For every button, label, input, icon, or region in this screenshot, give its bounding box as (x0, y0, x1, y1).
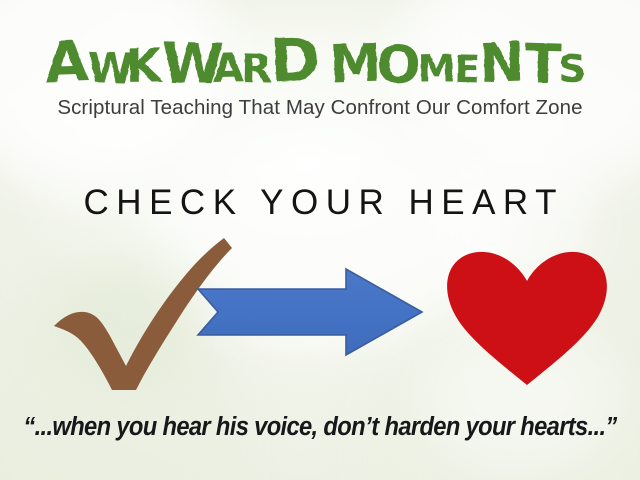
logo-letter: S (558, 47, 586, 91)
right-arrow-icon (196, 267, 424, 357)
logo-letter: O (376, 35, 422, 94)
logo-letter: A (44, 29, 90, 94)
slide-canvas: A W K W A R D M O M E N T S Scriptural T… (0, 0, 640, 480)
brand-logo: A W K W A R D M O M E N T S (0, 22, 640, 94)
heart-icon (442, 249, 612, 389)
scripture-quote: “...when you hear his voice, don’t harde… (22, 413, 617, 442)
logo-letter: A (212, 45, 244, 92)
logo-letter: M (329, 34, 382, 94)
logo-letter: N (478, 30, 525, 94)
graphics-row (0, 225, 640, 395)
brand-subtitle: Scriptural Teaching That May Confront Ou… (0, 96, 640, 120)
logo-letter: R (241, 46, 273, 93)
logo-letter: D (269, 25, 322, 94)
logo-letter: M (417, 46, 456, 91)
brand-logo-lettering: A W K W A R D M O M E N T S (40, 22, 600, 94)
page-title: CHECK YOUR HEART (0, 183, 640, 223)
logo-letter: K (125, 38, 164, 93)
logo-letter: E (454, 47, 481, 91)
logo-letter: T (524, 32, 563, 94)
